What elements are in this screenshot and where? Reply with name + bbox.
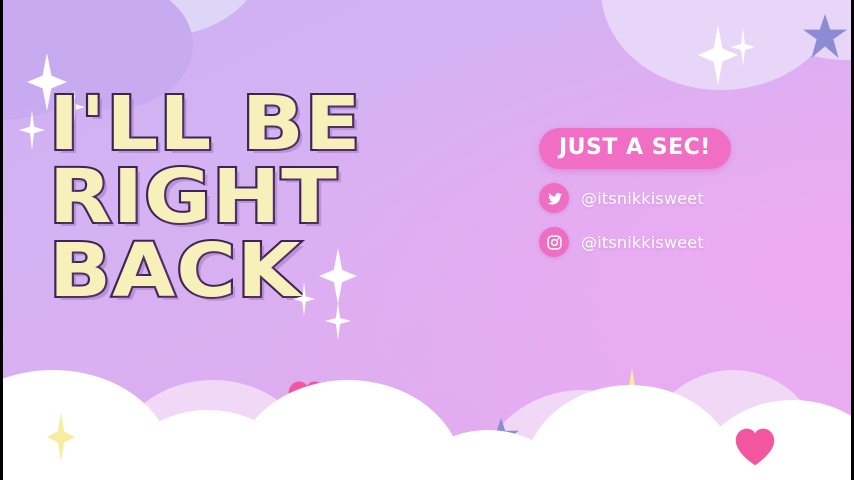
page-title: I'LL BE RIGHT BACK [49, 88, 333, 308]
headline-line-3: BACK [49, 235, 362, 308]
cloud-base [3, 470, 851, 480]
twitter-icon[interactable] [539, 183, 569, 213]
frame-left [0, 0, 3, 480]
social-panel: JUST A SEC! @itsnikkisweet @i [539, 128, 809, 257]
status-badge: JUST A SEC! [539, 128, 731, 169]
headline-line-1: I'LL BE [49, 88, 362, 161]
instagram-handle[interactable]: @itsnikkisweet [581, 233, 704, 252]
social-row-twitter[interactable]: @itsnikkisweet [539, 183, 809, 213]
overlay-canvas: I'LL BE RIGHT BACK JUST A SEC! @itsnikki… [3, 0, 851, 480]
stream-overlay-screen: I'LL BE RIGHT BACK JUST A SEC! @itsnikki… [0, 0, 854, 480]
heart-icon [733, 425, 777, 467]
cloud-bottom-front [3, 360, 851, 480]
headline-line-2: RIGHT [49, 161, 362, 234]
social-row-instagram[interactable]: @itsnikkisweet [539, 227, 809, 257]
instagram-icon[interactable] [539, 227, 569, 257]
twitter-handle[interactable]: @itsnikkisweet [581, 189, 704, 208]
